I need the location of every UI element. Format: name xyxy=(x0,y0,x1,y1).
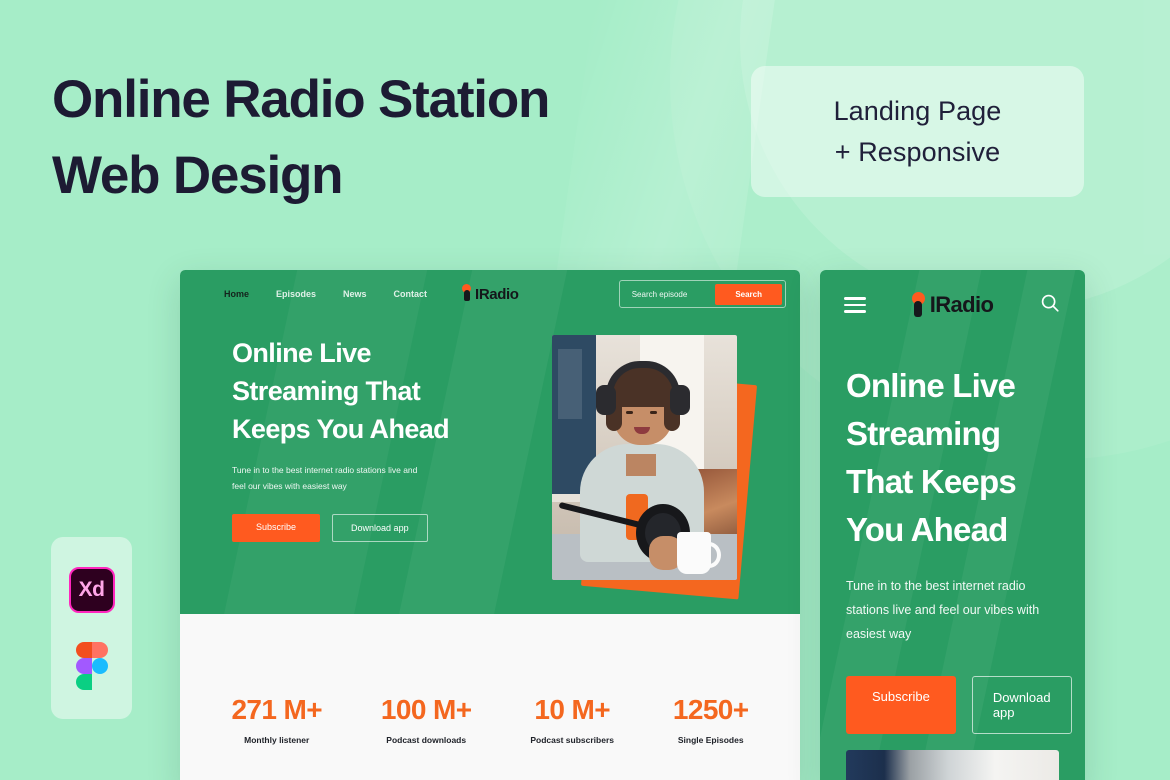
hamburger-bar-2 xyxy=(844,304,866,307)
hamburger-bar-1 xyxy=(844,297,866,300)
microphone-body xyxy=(464,290,470,301)
adobe-xd-icon: Xd xyxy=(69,567,115,613)
badge-line-2: + Responsive xyxy=(835,132,1001,173)
stat-item-single-episodes: 1250+ Single Episodes xyxy=(673,694,749,745)
page-title: Online Radio Station Web Design xyxy=(52,62,712,214)
download-app-button[interactable]: Download app xyxy=(332,514,428,542)
figma-shape-purple xyxy=(76,658,92,674)
figma-shape-blue xyxy=(92,658,108,674)
figma-icon xyxy=(76,642,108,689)
photo-coffee-mug xyxy=(677,532,711,574)
desktop-hero-title-line-1: Online Live xyxy=(232,334,480,372)
stat-label: Single Episodes xyxy=(673,735,749,745)
microphone-icon xyxy=(912,292,925,319)
mobile-mockup: IRadio Online Live Streaming That Keeps … xyxy=(820,270,1085,780)
microphone-body xyxy=(914,301,922,317)
desktop-hero-section: Home Episodes News Contact IRadio Search… xyxy=(180,270,800,614)
search-button[interactable]: Search xyxy=(715,284,782,305)
stats-strip: 271 M+ Monthly listener 100 M+ Podcast d… xyxy=(180,614,800,780)
stat-number: 1250+ xyxy=(673,694,749,726)
photo-person-eye-left xyxy=(626,411,633,414)
nav-item-news[interactable]: News xyxy=(343,289,367,299)
desktop-hero-title-line-3: Keeps You Ahead xyxy=(232,410,480,448)
mobile-hero-copy: Online Live Streaming That Keeps You Ahe… xyxy=(820,340,1085,734)
desktop-hero-copy: Online Live Streaming That Keeps You Ahe… xyxy=(180,318,480,542)
desktop-hero-title-line-2: Streaming That xyxy=(232,372,480,410)
nav-item-home[interactable]: Home xyxy=(224,289,249,299)
adobe-xd-label: Xd xyxy=(79,578,105,602)
desktop-navbar: Home Episodes News Contact IRadio Search… xyxy=(180,270,800,318)
figma-shape-orange xyxy=(76,642,92,658)
hero-image-cluster xyxy=(500,322,800,614)
stat-label: Podcast downloads xyxy=(381,735,472,745)
mobile-logo-text: IRadio xyxy=(930,292,994,318)
search-icon[interactable] xyxy=(1039,292,1061,319)
stat-label: Podcast subscribers xyxy=(530,735,614,745)
mobile-hero-actions: Subscribe Download app xyxy=(846,676,1059,734)
mobile-hero-title-line-1: Online Live xyxy=(846,362,1059,410)
host-photo xyxy=(552,335,737,580)
mobile-navbar: IRadio xyxy=(820,270,1085,340)
stat-label: Monthly listener xyxy=(231,735,322,745)
nav-item-episodes[interactable]: Episodes xyxy=(276,289,316,299)
stat-number: 271 M+ xyxy=(231,694,322,726)
stat-item-podcast-subscribers: 10 M+ Podcast subscribers xyxy=(530,694,614,745)
poster-canvas: Online Radio Station Web Design Landing … xyxy=(0,0,1170,780)
desktop-logo[interactable]: IRadio xyxy=(462,284,518,304)
photo-person-neck xyxy=(626,454,656,476)
mobile-hero-subtitle: Tune in to the best internet radio stati… xyxy=(846,574,1059,646)
headphone-cup-left xyxy=(596,385,616,415)
tools-panel: Xd xyxy=(51,537,132,719)
mobile-hero-title-line-3: That Keeps xyxy=(846,458,1059,506)
search-input[interactable]: Search episode xyxy=(623,290,716,299)
mobile-hero-image xyxy=(846,750,1059,780)
mobile-hero-title-line-4: You Ahead xyxy=(846,506,1059,554)
page-title-line-1: Online Radio Station xyxy=(52,70,549,129)
figma-shape-green xyxy=(76,674,92,690)
stat-item-podcast-downloads: 100 M+ Podcast downloads xyxy=(381,694,472,745)
mobile-download-app-button[interactable]: Download app xyxy=(972,676,1072,734)
hamburger-bar-3 xyxy=(844,310,866,313)
mobile-logo[interactable]: IRadio xyxy=(912,292,994,319)
mobile-subscribe-button[interactable]: Subscribe xyxy=(846,676,956,734)
page-title-line-2: Web Design xyxy=(52,138,712,214)
figma-shape-coral xyxy=(92,642,108,658)
desktop-hero-subtitle: Tune in to the best internet radio stati… xyxy=(232,462,432,494)
stat-number: 10 M+ xyxy=(530,694,614,726)
desktop-hero-title: Online Live Streaming That Keeps You Ahe… xyxy=(232,334,480,448)
photo-person-eye-right xyxy=(650,411,657,414)
stat-item-monthly-listener: 271 M+ Monthly listener xyxy=(231,694,322,745)
headphone-cup-right xyxy=(670,385,690,415)
desktop-mockup: Home Episodes News Contact IRadio Search… xyxy=(180,270,800,780)
mobile-hero-title-line-2: Streaming xyxy=(846,410,1059,458)
microphone-icon xyxy=(462,284,471,304)
status-badge: Landing Page + Responsive xyxy=(751,66,1084,197)
badge-line-1: Landing Page xyxy=(834,91,1002,132)
nav-item-contact[interactable]: Contact xyxy=(394,289,428,299)
desktop-hero-actions: Subscribe Download app xyxy=(232,514,480,542)
mobile-hero-title: Online Live Streaming That Keeps You Ahe… xyxy=(846,362,1059,554)
stat-number: 100 M+ xyxy=(381,694,472,726)
search-bar[interactable]: Search episode Search xyxy=(619,280,786,308)
subscribe-button[interactable]: Subscribe xyxy=(232,514,320,542)
hamburger-menu-icon[interactable] xyxy=(844,297,866,313)
desktop-logo-text: IRadio xyxy=(475,286,518,303)
